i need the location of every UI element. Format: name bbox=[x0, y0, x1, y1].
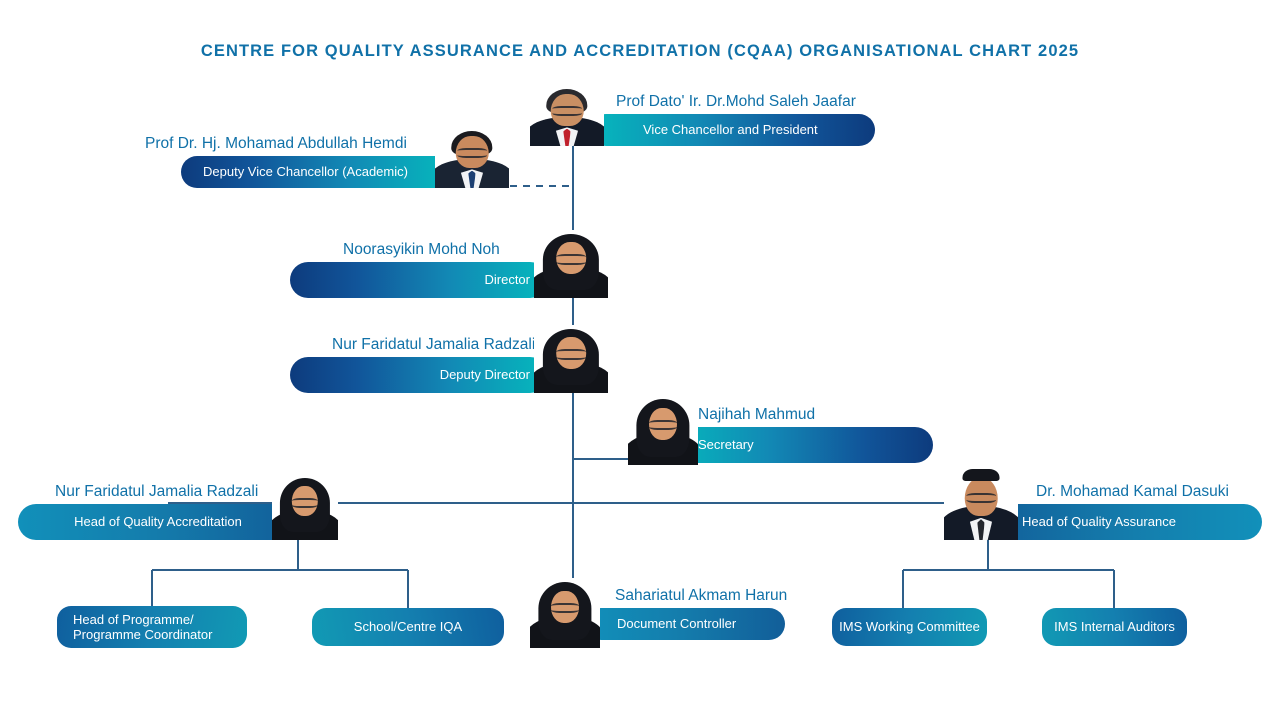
node-ims-internal-auditors[interactable]: IMS Internal Auditors bbox=[1042, 608, 1187, 646]
node-ims-working-committee[interactable]: IMS Working Committee bbox=[832, 608, 987, 646]
avatar-vice-chancellor bbox=[530, 84, 604, 146]
node-name-head-quality-accreditation: Nur Faridatul Jamalia Radzali bbox=[55, 484, 258, 500]
node-role-bar-head-quality-assurance[interactable]: Head of Quality Assurance bbox=[982, 504, 1262, 540]
avatar-document-controller bbox=[530, 578, 600, 648]
node-name-deputy-vice-chancellor: Prof Dr. Hj. Mohamad Abdullah Hemdi bbox=[145, 136, 407, 152]
node-role-vice-chancellor: Vice Chancellor and President bbox=[643, 122, 818, 137]
node-secretary[interactable]: Najihah Mahmud Secretary bbox=[628, 395, 933, 465]
node-role-bar-document-controller[interactable]: Document Controller bbox=[585, 608, 785, 640]
avatar-secretary bbox=[628, 395, 698, 465]
avatar-deputy-vice-chancellor bbox=[435, 126, 509, 188]
node-school-centre-iqa[interactable]: School/Centre IQA bbox=[312, 608, 504, 646]
node-role-head-of-programme-line1: Head of Programme/ bbox=[73, 612, 212, 627]
node-role-ims-working-committee: IMS Working Committee bbox=[839, 619, 980, 634]
node-role-head-quality-assurance: Head of Quality Assurance bbox=[1022, 514, 1176, 529]
avatar-director bbox=[534, 230, 608, 298]
node-name-head-quality-assurance: Dr. Mohamad Kamal Dasuki bbox=[1036, 484, 1229, 500]
node-role-deputy-director: Deputy Director bbox=[440, 367, 530, 382]
node-name-secretary: Najihah Mahmud bbox=[698, 407, 815, 423]
node-role-head-quality-accreditation: Head of Quality Accreditation bbox=[74, 514, 242, 529]
node-role-bar-deputy-vice-chancellor[interactable]: Deputy Vice Chancellor (Academic) bbox=[181, 156, 451, 188]
avatar-head-quality-accreditation bbox=[272, 474, 338, 540]
node-vice-chancellor[interactable]: Prof Dato' Ir. Dr.Mohd Saleh Jaafar Vice… bbox=[530, 84, 850, 146]
node-name-vice-chancellor: Prof Dato' Ir. Dr.Mohd Saleh Jaafar bbox=[616, 94, 856, 110]
avatar-deputy-director bbox=[534, 325, 608, 393]
node-role-document-controller: Document Controller bbox=[617, 616, 736, 631]
page-title: CENTRE FOR QUALITY ASSURANCE AND ACCREDI… bbox=[0, 42, 1280, 61]
node-role-ims-internal-auditors: IMS Internal Auditors bbox=[1054, 619, 1175, 634]
node-role-bar-director[interactable]: Director bbox=[290, 262, 548, 298]
node-document-controller[interactable]: Sahariatul Akmam Harun Document Controll… bbox=[530, 578, 785, 648]
node-director[interactable]: Noorasyikin Mohd Noh Director bbox=[290, 230, 610, 298]
node-role-head-of-programme-line2: Programme Coordinator bbox=[73, 627, 212, 642]
node-name-document-controller: Sahariatul Akmam Harun bbox=[615, 588, 787, 604]
node-role-bar-head-quality-accreditation[interactable]: Head of Quality Accreditation bbox=[18, 504, 298, 540]
node-role-director: Director bbox=[484, 272, 530, 287]
node-deputy-director[interactable]: Nur Faridatul Jamalia Radzali Deputy Dir… bbox=[290, 325, 610, 393]
node-deputy-vice-chancellor[interactable]: Prof Dr. Hj. Mohamad Abdullah Hemdi Depu… bbox=[145, 126, 490, 188]
node-name-deputy-director: Nur Faridatul Jamalia Radzali bbox=[332, 337, 535, 353]
node-role-bar-deputy-director[interactable]: Deputy Director bbox=[290, 357, 548, 393]
node-head-quality-assurance[interactable]: Dr. Mohamad Kamal Dasuki Head of Quality… bbox=[944, 466, 1262, 540]
node-role-secretary: Secretary bbox=[698, 437, 754, 452]
avatar-head-quality-assurance bbox=[944, 466, 1018, 540]
node-role-school-centre-iqa: School/Centre IQA bbox=[354, 619, 462, 634]
node-head-quality-accreditation[interactable]: Nur Faridatul Jamalia Radzali Head of Qu… bbox=[18, 474, 338, 540]
node-role-bar-secretary[interactable]: Secretary bbox=[668, 427, 933, 463]
node-name-director: Noorasyikin Mohd Noh bbox=[343, 242, 500, 258]
node-role-bar-vice-chancellor[interactable]: Vice Chancellor and President bbox=[590, 114, 875, 146]
org-chart: CENTRE FOR QUALITY ASSURANCE AND ACCREDI… bbox=[0, 0, 1280, 720]
node-role-deputy-vice-chancellor: Deputy Vice Chancellor (Academic) bbox=[203, 164, 408, 179]
node-head-of-programme[interactable]: Head of Programme/ Programme Coordinator bbox=[57, 606, 247, 648]
node-role-head-of-programme-group: Head of Programme/ Programme Coordinator bbox=[73, 612, 212, 643]
